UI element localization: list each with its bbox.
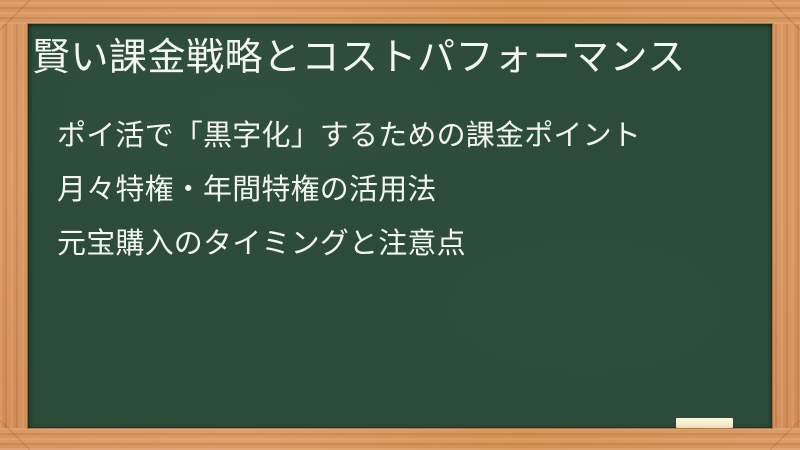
chalk-stick [676, 418, 733, 428]
slide-bullet-list: ポイ活で「黒字化」するための課金ポイント 月々特権・年間特権の活用法 元宝購入の… [57, 108, 757, 270]
bullet-item-1: ポイ活で「黒字化」するための課金ポイント [57, 108, 757, 162]
chalkboard-surface: 賢い課金戦略とコストパフォーマンス ポイ活で「黒字化」するための課金ポイント 月… [28, 24, 772, 428]
board-content: 賢い課金戦略とコストパフォーマンス ポイ活で「黒字化」するための課金ポイント 月… [28, 24, 772, 428]
frame-rail-bottom [0, 428, 800, 450]
frame-rail-top [0, 0, 800, 24]
bullet-item-3: 元宝購入のタイミングと注意点 [57, 216, 757, 270]
slide-title: 賢い課金戦略とコストパフォーマンス [32, 32, 762, 82]
chalkboard-slide: 賢い課金戦略とコストパフォーマンス ポイ活で「黒字化」するための課金ポイント 月… [0, 0, 800, 450]
bullet-item-2: 月々特権・年間特権の活用法 [57, 162, 757, 216]
